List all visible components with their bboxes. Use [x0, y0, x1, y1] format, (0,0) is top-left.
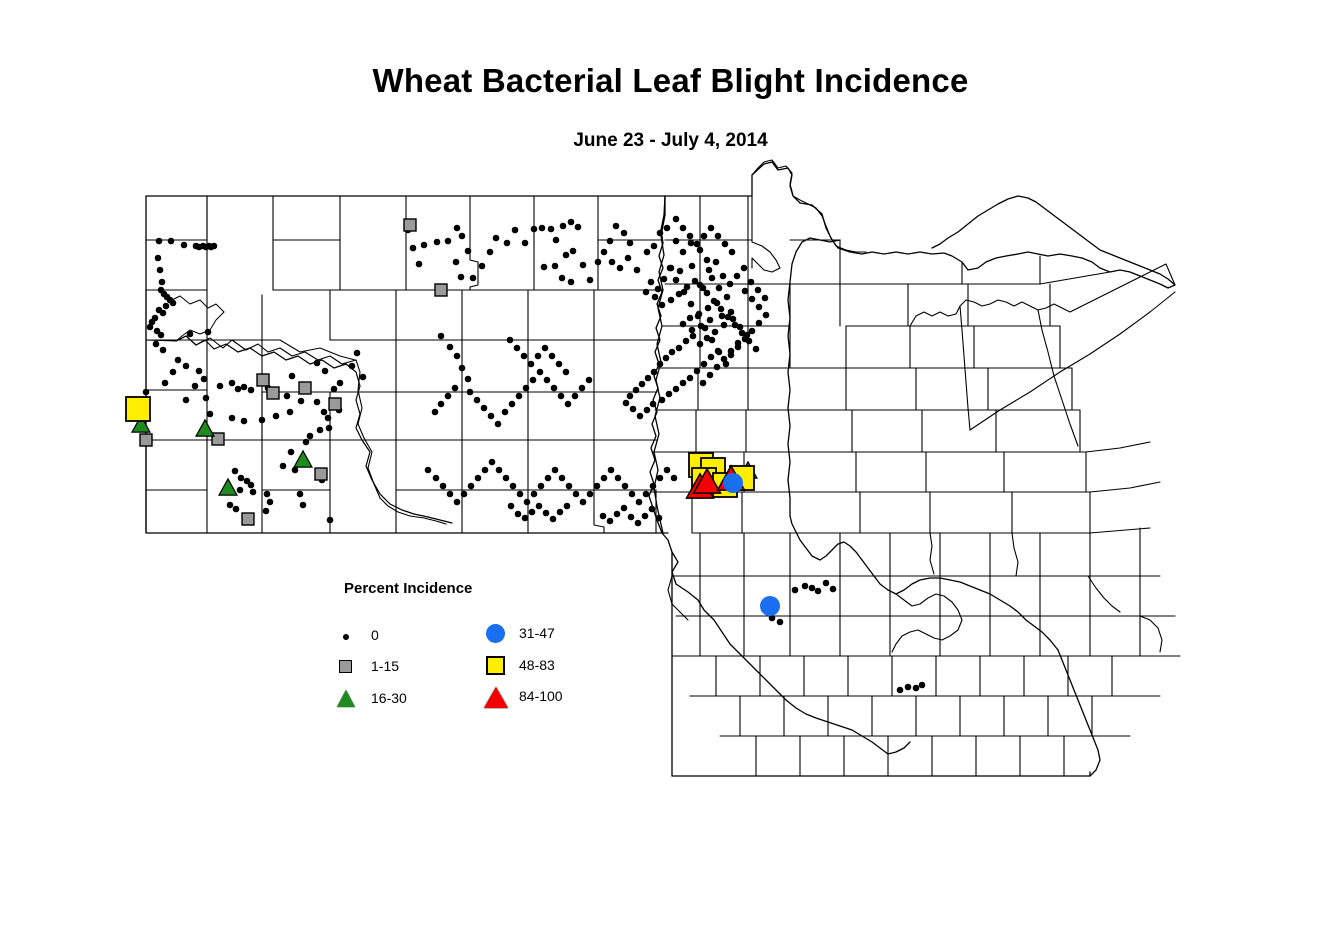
- data-point-zero: [196, 368, 203, 375]
- data-point-zero: [608, 467, 615, 474]
- data-point-1-15: [267, 387, 279, 399]
- data-point-zero: [677, 268, 684, 275]
- data-point-zero: [702, 325, 709, 332]
- data-point-zero: [452, 385, 459, 392]
- data-point-zero: [447, 491, 454, 498]
- data-point-zero: [568, 219, 575, 226]
- data-point-zero: [701, 361, 708, 368]
- data-point-zero: [170, 300, 177, 307]
- data-point-zero: [661, 276, 668, 283]
- data-point-zero: [227, 502, 234, 509]
- data-point-48-83: [126, 397, 150, 421]
- data-point-zero: [687, 315, 694, 322]
- data-point-zero: [543, 510, 550, 517]
- data-point-zero: [438, 401, 445, 408]
- data-point-zero: [502, 409, 509, 416]
- data-point-zero: [792, 587, 799, 594]
- data-point-zero: [535, 353, 542, 360]
- data-point-zero: [523, 385, 530, 392]
- data-point-zero: [614, 511, 621, 518]
- data-point-zero: [510, 483, 517, 490]
- data-point-zero: [587, 491, 594, 498]
- data-point-zero: [203, 395, 210, 402]
- data-point-zero: [568, 279, 575, 286]
- data-point-zero: [652, 294, 659, 301]
- data-point-zero: [586, 377, 593, 384]
- data-point-zero: [468, 483, 475, 490]
- data-point-zero: [572, 393, 579, 400]
- data-point-zero: [668, 297, 675, 304]
- data-point-zero: [722, 241, 729, 248]
- data-point-zero: [707, 372, 714, 379]
- data-point-zero: [627, 240, 634, 247]
- data-point-zero: [642, 513, 649, 520]
- data-point-zero: [187, 331, 194, 338]
- data-point-zero: [633, 387, 640, 394]
- data-point-zero: [514, 345, 521, 352]
- data-point-zero: [531, 491, 538, 498]
- data-point-zero: [232, 468, 239, 475]
- data-point-zero: [673, 238, 680, 245]
- data-point-zero: [147, 324, 154, 331]
- data-point-zero: [609, 259, 616, 266]
- data-point-zero: [433, 475, 440, 482]
- red-triangle-icon: [483, 685, 513, 709]
- data-point-zero: [331, 386, 338, 393]
- data-points-1-15: [140, 219, 447, 525]
- data-point-zero: [259, 417, 266, 424]
- data-point-zero: [613, 223, 620, 230]
- data-point-16-30: [219, 479, 237, 495]
- data-point-1-15: [329, 398, 341, 410]
- data-point-zero: [830, 586, 837, 593]
- data-point-zero: [601, 249, 608, 256]
- data-point-zero: [538, 483, 545, 490]
- data-point-zero: [192, 383, 199, 390]
- data-point-zero: [549, 353, 556, 360]
- data-point-zero: [241, 418, 248, 425]
- data-point-zero: [724, 294, 731, 301]
- data-point-zero: [712, 329, 719, 336]
- data-point-zero: [756, 320, 763, 327]
- data-point-zero: [263, 508, 270, 515]
- data-point-zero: [558, 393, 565, 400]
- data-point-zero: [707, 317, 714, 324]
- data-point-zero: [470, 275, 477, 282]
- data-point-zero: [650, 401, 657, 408]
- data-point-zero: [160, 310, 167, 317]
- legend-label-48-83: 48-83: [519, 657, 555, 673]
- data-point-zero: [651, 243, 658, 250]
- data-point-zero: [175, 357, 182, 364]
- data-point-zero: [777, 619, 784, 626]
- data-point-zero: [267, 499, 274, 506]
- data-point-zero: [639, 381, 646, 388]
- data-point-zero: [495, 421, 502, 428]
- data-point-zero: [644, 407, 651, 414]
- data-point-zero: [170, 369, 177, 376]
- data-point-zero: [708, 354, 715, 361]
- data-point-zero: [459, 365, 466, 372]
- data-point-zero: [440, 483, 447, 490]
- data-point-zero: [657, 475, 664, 482]
- data-point-zero: [552, 467, 559, 474]
- data-point-zero: [229, 415, 236, 422]
- data-point-1-15: [299, 382, 311, 394]
- data-point-zero: [623, 400, 630, 407]
- data-point-zero: [153, 341, 160, 348]
- data-point-zero: [756, 304, 763, 311]
- data-point-zero: [504, 240, 511, 247]
- map-canvas: [0, 0, 1341, 926]
- data-point-zero: [650, 483, 657, 490]
- data-point-zero: [666, 391, 673, 398]
- data-point-zero: [680, 249, 687, 256]
- data-point-zero: [235, 386, 242, 393]
- data-point-zero: [628, 514, 635, 521]
- data-point-zero: [728, 352, 735, 359]
- data-point-zero: [559, 475, 566, 482]
- data-point-zero: [515, 511, 522, 518]
- data-point-zero: [474, 397, 481, 404]
- data-point-zero: [512, 227, 519, 234]
- data-point-zero: [322, 368, 329, 375]
- data-point-zero: [454, 353, 461, 360]
- gray-square-icon: [335, 655, 365, 679]
- data-point-zero: [410, 245, 417, 252]
- data-point-zero: [317, 427, 324, 434]
- legend-label-84-100: 84-100: [519, 688, 563, 704]
- data-point-zero: [531, 226, 538, 233]
- data-point-1-15: [242, 513, 254, 525]
- data-point-zero: [669, 349, 676, 356]
- map-figure: Wheat Bacterial Leaf Blight Incidence Ju…: [0, 0, 1341, 926]
- data-point-zero: [580, 499, 587, 506]
- data-point-zero: [479, 263, 486, 270]
- data-point-zero: [297, 491, 304, 498]
- data-point-zero: [183, 363, 190, 370]
- data-point-zero: [416, 261, 423, 268]
- data-point-zero: [556, 361, 563, 368]
- data-point-zero: [697, 341, 704, 348]
- data-point-zero: [217, 383, 224, 390]
- data-point-zero: [695, 313, 702, 320]
- data-point-zero: [565, 401, 572, 408]
- data-point-zero: [570, 248, 577, 255]
- data-point-zero: [615, 475, 622, 482]
- legend-label-0: 0: [371, 627, 379, 643]
- data-point-zero: [537, 369, 544, 376]
- data-point-zero: [729, 249, 736, 256]
- data-point-zero: [689, 263, 696, 270]
- data-point-zero: [683, 338, 690, 345]
- data-point-zero: [629, 491, 636, 498]
- data-point-zero: [545, 475, 552, 482]
- data-point-zero: [445, 393, 452, 400]
- data-point-zero: [321, 409, 328, 416]
- data-point-zero: [580, 262, 587, 269]
- data-point-zero: [447, 344, 454, 351]
- data-point-zero: [643, 289, 650, 296]
- data-point-zero: [201, 376, 208, 383]
- data-point-zero: [516, 393, 523, 400]
- data-point-1-15: [315, 468, 327, 480]
- data-point-zero: [237, 487, 244, 494]
- data-point-zero: [664, 467, 671, 474]
- data-point-31-47: [723, 473, 743, 493]
- data-point-zero: [445, 238, 452, 245]
- data-point-zero: [755, 287, 762, 294]
- data-point-zero: [749, 296, 756, 303]
- data-point-zero: [489, 459, 496, 466]
- data-point-zero: [644, 249, 651, 256]
- data-point-zero: [248, 387, 255, 394]
- data-point-zero: [548, 226, 555, 233]
- data-point-zero: [250, 489, 257, 496]
- data-point-zero: [720, 273, 727, 280]
- data-point-zero: [517, 491, 524, 498]
- data-point-zero: [438, 333, 445, 340]
- data-point-1-15: [435, 284, 447, 296]
- data-point-zero: [522, 515, 529, 522]
- data-point-zero: [298, 398, 305, 405]
- data-point-zero: [721, 356, 728, 363]
- data-point-zero: [753, 346, 760, 353]
- data-point-zero: [524, 499, 531, 506]
- data-point-zero: [716, 285, 723, 292]
- data-point-zero: [579, 385, 586, 392]
- data-point-zero: [528, 361, 535, 368]
- data-point-zero: [465, 376, 472, 383]
- data-point-zero: [701, 233, 708, 240]
- data-point-zero: [709, 275, 716, 282]
- data-point-zero: [687, 375, 694, 382]
- data-point-zero: [681, 289, 688, 296]
- data-point-zero: [713, 259, 720, 266]
- data-points-48-83: [126, 397, 754, 497]
- data-point-zero: [157, 267, 164, 274]
- data-point-zero: [625, 255, 632, 262]
- data-point-zero: [680, 321, 687, 328]
- data-point-zero: [288, 449, 295, 456]
- data-point-zero: [530, 377, 537, 384]
- data-point-zero: [560, 223, 567, 230]
- data-point-zero: [815, 588, 822, 595]
- data-point-zero: [559, 275, 566, 282]
- data-point-zero: [458, 274, 465, 281]
- data-point-zero: [706, 267, 713, 274]
- data-point-zero: [659, 397, 666, 404]
- data-point-zero: [809, 585, 816, 592]
- data-point-zero: [694, 241, 701, 248]
- data-point-zero: [709, 337, 716, 344]
- data-point-zero: [575, 224, 582, 231]
- data-point-zero: [694, 368, 701, 375]
- data-point-zero: [337, 380, 344, 387]
- legend-label-31-47: 31-47: [519, 625, 555, 641]
- data-point-zero: [183, 397, 190, 404]
- data-point-zero: [716, 349, 723, 356]
- data-point-zero: [659, 302, 666, 309]
- data-point-zero: [536, 503, 543, 510]
- data-point-zero: [711, 298, 718, 305]
- data-point-zero: [630, 406, 637, 413]
- data-point-zero: [284, 393, 291, 400]
- data-point-zero: [168, 238, 175, 245]
- data-point-zero: [507, 337, 514, 344]
- data-point-zero: [229, 380, 236, 387]
- data-point-zero: [645, 375, 652, 382]
- data-point-zero: [493, 235, 500, 242]
- data-point-zero: [739, 330, 746, 337]
- data-point-zero: [676, 345, 683, 352]
- data-point-zero: [622, 483, 629, 490]
- data-point-zero: [735, 344, 742, 351]
- data-point-zero: [475, 475, 482, 482]
- county-boundaries: [146, 160, 1180, 776]
- data-point-zero: [749, 328, 756, 335]
- data-point-zero: [461, 491, 468, 498]
- data-point-zero: [587, 277, 594, 284]
- data-point-zero: [551, 385, 558, 392]
- data-point-zero: [529, 509, 536, 516]
- blue-circle-icon: [483, 622, 513, 646]
- data-point-zero: [673, 216, 680, 223]
- data-point-zero: [667, 265, 674, 272]
- data-point-zero: [509, 401, 516, 408]
- data-point-zero: [325, 415, 332, 422]
- data-point-zero: [715, 233, 722, 240]
- data-point-zero: [303, 439, 310, 446]
- data-point-zero: [539, 225, 546, 232]
- data-point-31-47: [760, 596, 780, 616]
- data-point-zero: [264, 491, 271, 498]
- data-point-zero: [196, 244, 203, 251]
- green-triangle-icon: [335, 687, 365, 711]
- data-point-zero: [655, 286, 662, 293]
- data-point-zero: [289, 373, 296, 380]
- data-point-zero: [601, 475, 608, 482]
- data-point-zero: [762, 295, 769, 302]
- data-point-zero: [563, 252, 570, 259]
- data-point-zero: [454, 499, 461, 506]
- data-point-zero: [314, 399, 321, 406]
- data-point-zero: [434, 239, 441, 246]
- data-point-zero: [354, 350, 361, 357]
- small-black-dot-icon: [335, 624, 365, 648]
- data-point-zero: [487, 249, 494, 256]
- data-point-zero: [273, 413, 280, 420]
- data-point-zero: [563, 369, 570, 376]
- data-point-zero: [636, 499, 643, 506]
- data-point-zero: [241, 384, 248, 391]
- data-point-zero: [634, 267, 641, 274]
- data-point-zero: [233, 506, 240, 513]
- data-point-zero: [425, 467, 432, 474]
- data-point-16-30: [196, 420, 214, 436]
- data-point-zero: [690, 333, 697, 340]
- data-point-zero: [163, 303, 170, 310]
- data-point-zero: [314, 360, 321, 367]
- data-point-zero: [823, 580, 830, 587]
- data-point-zero: [162, 380, 169, 387]
- data-point-zero: [307, 433, 314, 440]
- data-point-zero: [280, 463, 287, 470]
- north-dakota-outline: [146, 196, 668, 533]
- data-point-zero: [503, 475, 510, 482]
- data-point-zero: [607, 518, 614, 525]
- data-point-zero: [689, 327, 696, 334]
- data-point-zero: [595, 259, 602, 266]
- data-point-zero: [553, 237, 560, 244]
- data-point-zero: [718, 306, 725, 313]
- yellow-square-icon: [483, 654, 513, 678]
- data-point-zero: [521, 353, 528, 360]
- data-point-zero: [496, 467, 503, 474]
- data-point-zero: [159, 279, 166, 286]
- data-point-zero: [617, 265, 624, 272]
- data-point-zero: [481, 405, 488, 412]
- data-point-zero: [649, 506, 656, 513]
- data-point-zero: [671, 475, 678, 482]
- data-point-zero: [680, 380, 687, 387]
- data-point-zero: [664, 225, 671, 232]
- data-point-zero: [541, 264, 548, 271]
- data-point-zero: [687, 233, 694, 240]
- data-point-zero: [748, 279, 755, 286]
- data-point-zero: [627, 393, 634, 400]
- data-point-zero: [673, 277, 680, 284]
- data-point-zero: [300, 502, 307, 509]
- data-point-zero: [688, 240, 695, 247]
- data-point-zero: [564, 503, 571, 510]
- data-point-zero: [207, 411, 214, 418]
- data-point-zero: [143, 389, 150, 396]
- data-point-zero: [734, 273, 741, 280]
- data-point-zero: [621, 505, 628, 512]
- data-point-zero: [704, 257, 711, 264]
- data-point-16-30: [294, 451, 312, 467]
- data-point-zero: [557, 509, 564, 516]
- data-point-zero: [680, 225, 687, 232]
- data-point-zero: [607, 238, 614, 245]
- data-point-zero: [542, 345, 549, 352]
- data-point-zero: [656, 515, 663, 522]
- data-point-zero: [621, 230, 628, 237]
- data-point-zero: [742, 288, 749, 295]
- data-point-zero: [708, 225, 715, 232]
- data-point-zero: [566, 483, 573, 490]
- data-point-zero: [732, 322, 739, 329]
- data-point-zero: [763, 312, 770, 319]
- data-point-zero: [705, 305, 712, 312]
- data-point-zero: [648, 279, 655, 286]
- data-point-zero: [697, 282, 704, 289]
- legend-title: Percent Incidence: [344, 580, 472, 597]
- data-point-zero: [600, 513, 607, 520]
- data-point-zero: [287, 409, 294, 416]
- data-point-1-15: [257, 374, 269, 386]
- data-point-zero: [508, 503, 515, 510]
- data-point-zero: [552, 263, 559, 270]
- data-point-zero: [156, 238, 163, 245]
- data-point-zero: [719, 313, 726, 320]
- data-point-zero: [360, 374, 367, 381]
- data-point-zero: [432, 409, 439, 416]
- data-point-zero: [327, 517, 334, 524]
- data-point-zero: [488, 413, 495, 420]
- data-point-zero: [453, 259, 460, 266]
